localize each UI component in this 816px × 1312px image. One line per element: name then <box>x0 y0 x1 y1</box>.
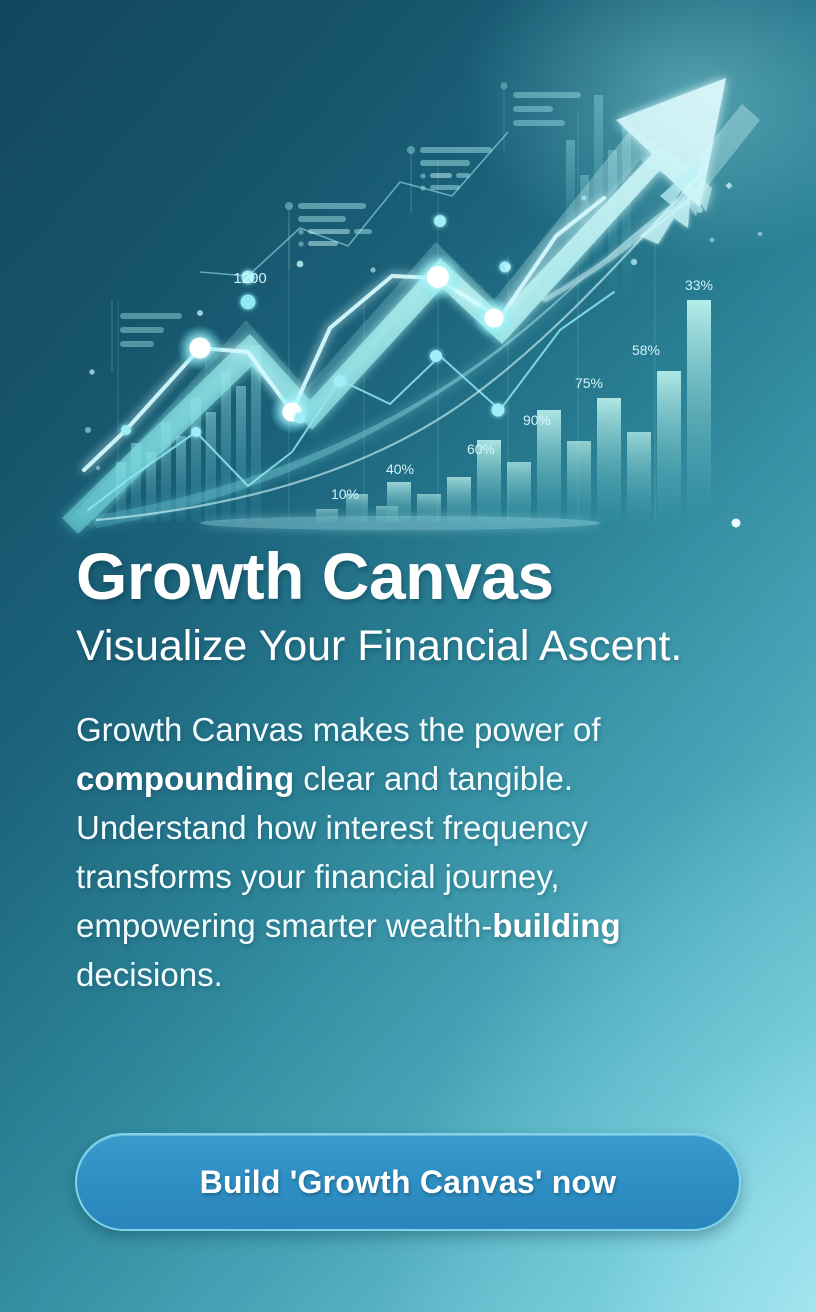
axis-value-label-group: 1200 <box>233 270 266 310</box>
bar-label-75: 75% <box>575 375 603 391</box>
placeholder-block-2 <box>285 202 372 270</box>
bar-13 <box>657 371 681 523</box>
page-subtitle: Visualize Your Financial Ascent. <box>0 620 816 673</box>
build-growth-canvas-button[interactable]: Build 'Growth Canvas' now <box>75 1133 741 1231</box>
bar-10 <box>567 441 591 523</box>
page-title: Growth Canvas <box>0 536 816 616</box>
placeholder-block-1 <box>112 300 182 372</box>
bar-label-33: 33% <box>685 277 713 293</box>
bar-8 <box>507 462 531 523</box>
bar-14 <box>687 300 711 523</box>
bar-11 <box>597 398 621 523</box>
bar-label-10: 10% <box>331 486 359 502</box>
bar-label-90: 90% <box>523 412 551 428</box>
promo-poster: 1200 10% 40% 60% 90% 75% 58% 33% <box>0 0 816 1312</box>
bar-label-60: 60% <box>467 441 495 457</box>
body-part-1: Growth Canvas makes the power of <box>76 711 601 748</box>
bar-label-58: 58% <box>632 342 660 358</box>
bar-6 <box>447 477 471 523</box>
cta-container: Build 'Growth Canvas' now <box>0 1133 816 1231</box>
growth-chart-illustration: 1200 10% 40% 60% 90% 75% 58% 33% <box>0 0 816 540</box>
baseline-end-dot <box>732 519 741 528</box>
axis-value-label: 1200 <box>233 270 266 287</box>
body-part-3: decisions. <box>76 956 223 993</box>
body-paragraph: Growth Canvas makes the power of compoun… <box>0 705 816 999</box>
content-block: Growth Canvas Visualize Your Financial A… <box>0 536 816 999</box>
baseline-glow <box>200 516 600 530</box>
body-bold-building: building <box>492 907 620 944</box>
bar-label-40: 40% <box>386 461 414 477</box>
bar-12 <box>627 432 651 523</box>
body-bold-compounding: compounding <box>76 760 294 797</box>
